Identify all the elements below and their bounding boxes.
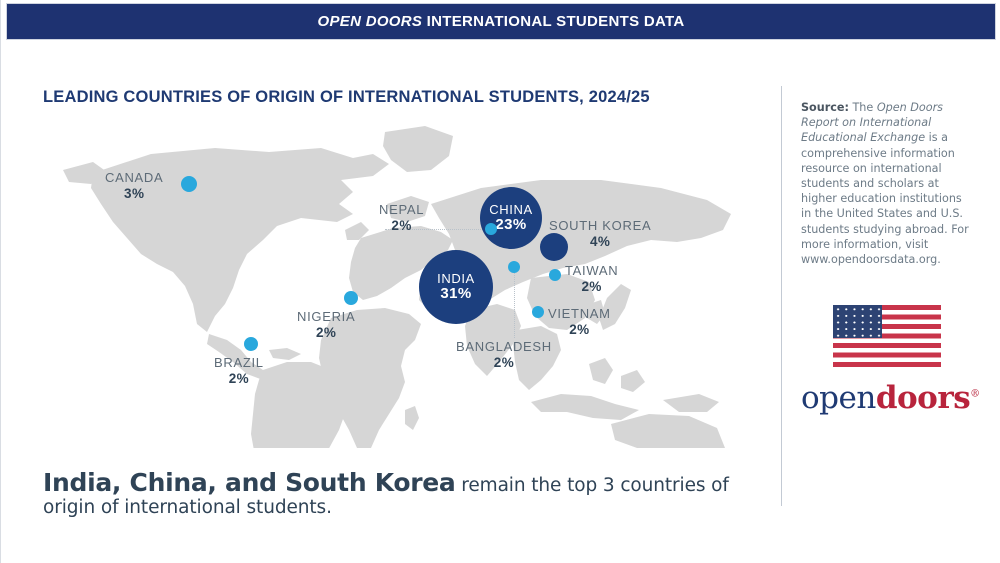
caption-lead: India, China, and South Korea bbox=[43, 468, 455, 497]
label-nigeria-name: NIGERIA bbox=[297, 310, 355, 325]
flag-stars bbox=[833, 305, 882, 338]
bubble-india-name: INDIA bbox=[437, 272, 475, 286]
opendoors-logo[interactable]: opendoors® bbox=[801, 383, 973, 414]
source-panel: Source: The Open Doors Report on Interna… bbox=[801, 100, 973, 267]
logo-block: opendoors® bbox=[801, 305, 973, 414]
dot-brazil[interactable] bbox=[244, 337, 258, 351]
logo-open-text: open bbox=[801, 380, 876, 416]
us-flag-icon bbox=[833, 305, 941, 367]
vertical-divider bbox=[781, 86, 782, 506]
label-nepal-name: NEPAL bbox=[379, 203, 424, 218]
header-title-rest: INTERNATIONAL STUDENTS DATA bbox=[422, 13, 684, 30]
dot-nepal[interactable] bbox=[485, 223, 497, 235]
bubble-map: INDIA 31% CHINA 23% SOUTH KOREA 4% CANAD… bbox=[1, 118, 781, 448]
bubble-india-value: 31% bbox=[440, 286, 471, 302]
label-canada: CANADA 3% bbox=[105, 171, 163, 201]
label-bangladesh: BANGLADESH 2% bbox=[456, 340, 552, 370]
world-map-silhouette bbox=[1, 118, 781, 448]
source-text-part2: is a comprehensive information resource … bbox=[801, 131, 969, 266]
label-south-korea-name: SOUTH KOREA bbox=[549, 219, 651, 234]
label-brazil: BRAZIL 2% bbox=[214, 356, 264, 386]
caption: India, China, and South Korea remain the… bbox=[43, 468, 743, 518]
dot-canada[interactable] bbox=[181, 176, 197, 192]
label-vietnam: VIETNAM 2% bbox=[548, 307, 611, 337]
header-bar: OPEN DOORS INTERNATIONAL STUDENTS DATA bbox=[6, 3, 996, 40]
flag-canton bbox=[833, 305, 882, 338]
label-bangladesh-value: 2% bbox=[456, 355, 552, 370]
label-canada-name: CANADA bbox=[105, 171, 163, 186]
bubble-china-name: CHINA bbox=[489, 203, 532, 217]
dot-bangladesh[interactable] bbox=[508, 261, 520, 273]
label-vietnam-name: VIETNAM bbox=[548, 307, 611, 322]
label-canada-value: 3% bbox=[105, 186, 163, 201]
bubble-china-value: 23% bbox=[495, 217, 526, 233]
header-title: OPEN DOORS INTERNATIONAL STUDENTS DATA bbox=[318, 13, 685, 30]
page-title: LEADING COUNTRIES OF ORIGIN OF INTERNATI… bbox=[43, 88, 650, 107]
label-nepal: NEPAL 2% bbox=[379, 203, 424, 233]
label-south-korea: SOUTH KOREA 4% bbox=[549, 219, 651, 249]
label-bangladesh-name: BANGLADESH bbox=[456, 340, 552, 355]
logo-doors-text: doors bbox=[876, 380, 970, 416]
label-nigeria: NIGERIA 2% bbox=[297, 310, 355, 340]
label-brazil-value: 2% bbox=[214, 371, 264, 386]
dot-nigeria[interactable] bbox=[344, 291, 358, 305]
label-taiwan: TAIWAN 2% bbox=[565, 264, 618, 294]
label-taiwan-value: 2% bbox=[565, 279, 618, 294]
label-nepal-value: 2% bbox=[379, 218, 424, 233]
label-brazil-name: BRAZIL bbox=[214, 356, 264, 371]
label-nigeria-value: 2% bbox=[297, 325, 355, 340]
bubble-china[interactable]: CHINA 23% bbox=[480, 187, 542, 249]
registered-trademark-icon: ® bbox=[970, 389, 980, 400]
dot-vietnam[interactable] bbox=[532, 306, 544, 318]
source-text: Source: The Open Doors Report on Interna… bbox=[801, 100, 973, 267]
label-taiwan-name: TAIWAN bbox=[565, 264, 618, 279]
label-south-korea-value: 4% bbox=[549, 234, 651, 249]
infographic-page: OPEN DOORS INTERNATIONAL STUDENTS DATA L… bbox=[0, 0, 1000, 563]
leader-line-bangladesh bbox=[514, 268, 515, 338]
label-vietnam-value: 2% bbox=[548, 322, 611, 337]
dot-taiwan[interactable] bbox=[549, 269, 561, 281]
header-title-brand: OPEN DOORS bbox=[318, 13, 423, 30]
source-label: Source: bbox=[801, 101, 849, 114]
source-text-part1: The bbox=[849, 101, 877, 114]
bubble-india[interactable]: INDIA 31% bbox=[419, 250, 493, 324]
